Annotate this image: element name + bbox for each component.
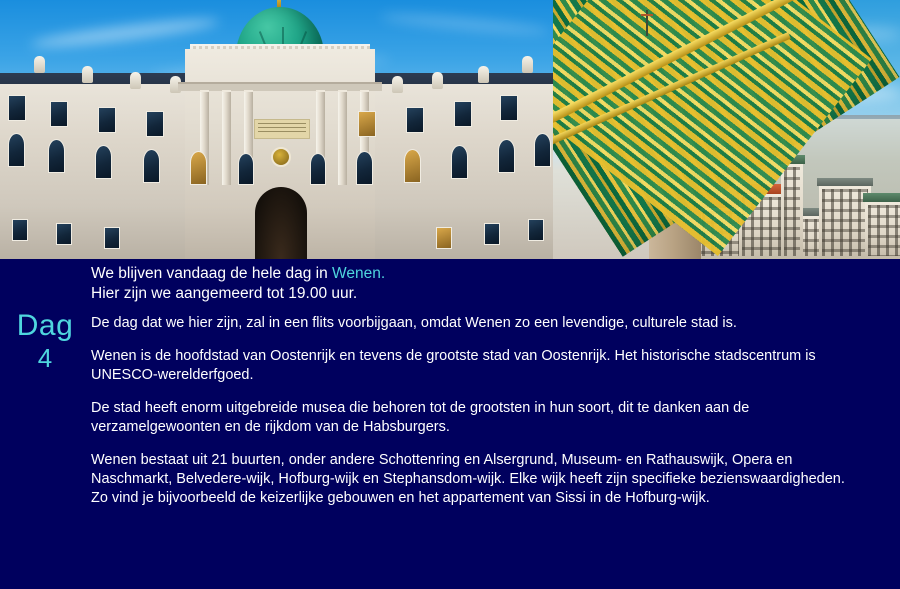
palace-window — [50, 101, 68, 127]
building-roof — [863, 193, 900, 202]
intro-line1-prefix: We blijven vandaag de hele dag in — [91, 265, 332, 282]
palace-window — [454, 101, 472, 127]
cloud-wisp — [380, 11, 550, 38]
city-building — [781, 163, 803, 259]
palace-window — [95, 145, 112, 179]
day-description-panel: Dag 4 We blijven vandaag de hele dag in … — [0, 259, 900, 589]
palace-window — [500, 95, 518, 121]
roof-cross-icon — [646, 10, 648, 36]
palace-window — [146, 111, 164, 137]
destination-highlight: Wenen. — [332, 265, 385, 282]
roof-statue — [432, 72, 443, 89]
palace-window — [436, 227, 452, 249]
palace-window — [406, 107, 424, 133]
palace-window — [310, 153, 326, 185]
day-badge-label: Dag — [6, 311, 84, 341]
building-body — [865, 201, 900, 259]
roof-statue — [34, 56, 45, 73]
palace-window — [8, 95, 26, 121]
palace-window — [528, 219, 544, 241]
building-windows — [784, 167, 800, 256]
palace-window — [356, 151, 373, 185]
roof-statue — [82, 66, 93, 83]
city-building — [865, 201, 900, 259]
palace-window — [56, 223, 72, 245]
palace-window — [358, 111, 376, 137]
intro-line2: Hier zijn we aangemeerd tot 19.00 uur. — [91, 285, 357, 302]
roof-statue — [478, 66, 489, 83]
roof-statue — [392, 76, 403, 93]
roof-statue — [522, 56, 533, 73]
palace-window — [190, 151, 207, 185]
palace-window — [12, 219, 28, 241]
day-content: We blijven vandaag de hele dag in Wenen.… — [91, 264, 886, 507]
palace-window — [451, 145, 468, 179]
palace-window — [498, 139, 515, 173]
intro-paragraph: We blijven vandaag de hele dag in Wenen.… — [91, 264, 886, 304]
hero-image-band — [0, 0, 900, 260]
palace-window — [404, 149, 421, 183]
palace-column — [338, 90, 347, 185]
building-windows — [868, 205, 900, 256]
palace-window — [104, 227, 120, 249]
palace-window — [484, 223, 500, 245]
palace-column — [222, 90, 231, 185]
palace-window — [534, 133, 551, 167]
palace-window — [8, 133, 25, 167]
palace-window — [98, 107, 116, 133]
palace-inscription-tablet — [254, 119, 310, 139]
hofburg-palace-photo — [0, 0, 556, 259]
building-windows — [822, 189, 868, 256]
palace-window — [48, 139, 65, 173]
roof-statue — [130, 72, 141, 89]
stephansdom-roof-photo — [553, 0, 900, 259]
body-paragraph-2: Wenen is de hoofdstad van Oostenrijk en … — [91, 346, 858, 384]
palace-medallion — [271, 147, 291, 167]
day-badge: Dag 4 — [6, 311, 84, 371]
palace-window — [238, 153, 254, 185]
body-paragraph-3: De stad heeft enorm uitgebreide musea di… — [91, 398, 858, 436]
body-paragraph-4: Wenen bestaat uit 21 buurten, onder ande… — [91, 450, 858, 507]
building-body — [781, 163, 803, 259]
day-badge-number: 4 — [6, 345, 84, 371]
palace-window — [143, 149, 160, 183]
body-paragraph-1: De dag dat we hier zijn, zal in een flit… — [91, 313, 858, 332]
building-roof — [817, 178, 873, 186]
palace-main-portal — [255, 187, 307, 259]
